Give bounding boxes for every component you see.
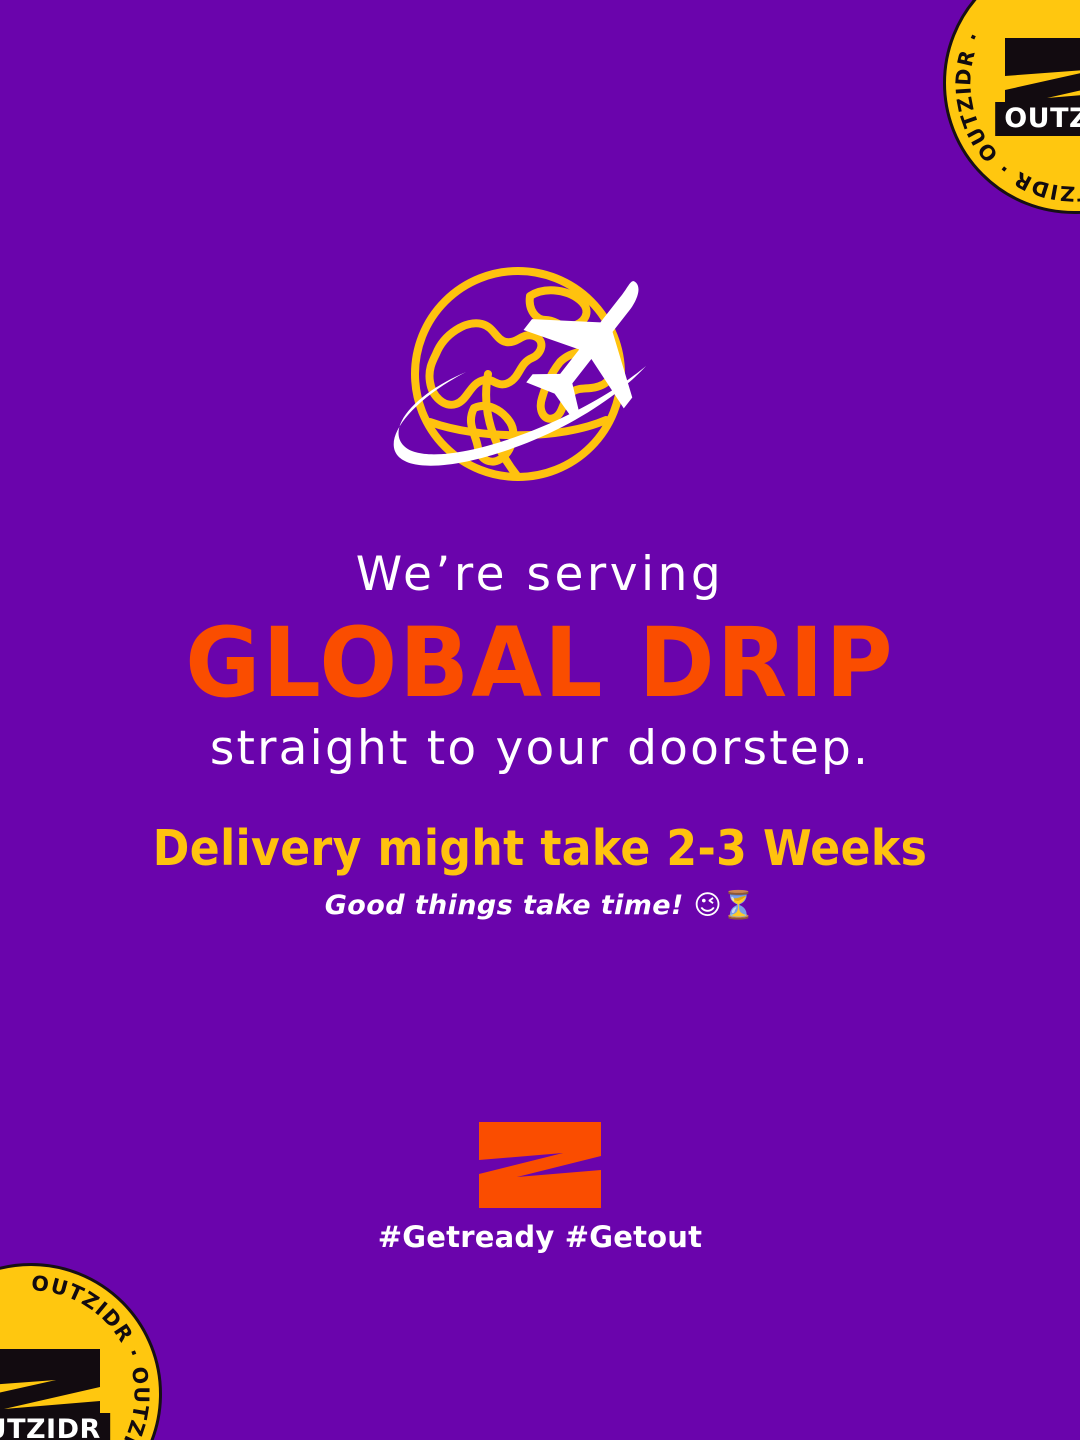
poster-canvas: OUTZIDR · OUTZIDR · OUTZIDR · OUTZIDR · …: [0, 0, 1080, 1440]
seal-wordmark: OUTZIDR: [0, 1413, 110, 1440]
subline-text: straight to your doorstep.: [0, 722, 1080, 776]
hero-illustration: [0, 262, 1080, 502]
footer-lockup: #Getready #Getout: [0, 1122, 1080, 1254]
delivery-note-block: Delivery might take 2-3 Weeks Good thing…: [0, 822, 1080, 921]
seal-mark-bottom-left: OUTZIDR: [0, 1347, 106, 1440]
kicker-text: We’re serving: [0, 548, 1080, 602]
seal-wordmark: OUTZIDR: [995, 102, 1080, 136]
headline-block: We’re serving GLOBAL DRIP straight to yo…: [0, 548, 1080, 776]
outzidr-z-logo-icon: [479, 1122, 601, 1208]
delivery-reassurance-text: Good things take time! 😉⏳: [0, 889, 1080, 921]
airplane-icon: [499, 262, 689, 440]
seal-badge-top-right: OUTZIDR · OUTZIDR · OUTZIDR · OUTZIDR · …: [943, 0, 1080, 214]
delivery-reassurance-label: Good things take time!: [325, 890, 684, 921]
brand-tagline: #Getready #Getout: [0, 1220, 1080, 1254]
wink-hourglass-emoji: 😉⏳: [694, 890, 756, 921]
delivery-time-text: Delivery might take 2-3 Weeks: [0, 822, 1080, 877]
page-title: GLOBAL DRIP: [0, 612, 1080, 716]
seal-badge-bottom-left: OUTZIDR · OUTZIDR · OUTZIDR · OUTZIDR · …: [0, 1263, 162, 1440]
seal-mark-top-right: OUTZIDR: [999, 36, 1080, 130]
globe-with-airplane-icon: [370, 262, 710, 502]
